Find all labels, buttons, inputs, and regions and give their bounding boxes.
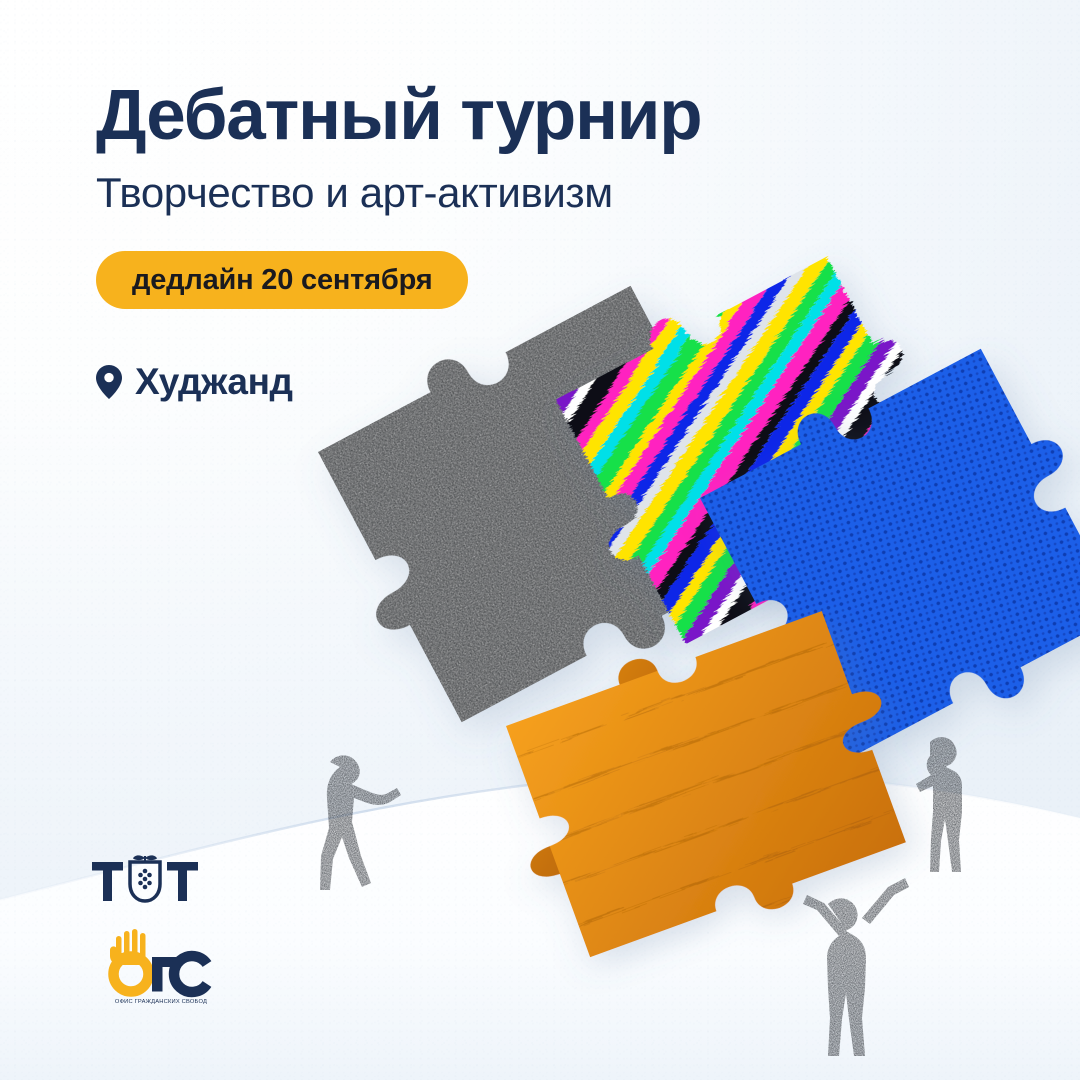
ogs-logo[interactable]: ОФИС ГРАЖДАНСКИХ СВОБОД xyxy=(102,928,220,1006)
deadline-badge-label: дедлайн 20 сентября xyxy=(132,264,432,297)
map-pin-icon xyxy=(96,365,122,399)
page-title: Дебатный турнир xyxy=(96,78,876,153)
tut-logo[interactable] xyxy=(92,853,198,907)
ogs-tagline: ОФИС ГРАЖДАНСКИХ СВОБОД xyxy=(115,999,207,1005)
deadline-badge[interactable]: дедлайн 20 сентября xyxy=(96,251,468,309)
logo-group: ОФИС ГРАЖДАНСКИХ СВОБОД xyxy=(92,853,220,1006)
poster-canvas: Дебатный турнир Творчество и арт-активиз… xyxy=(0,0,1080,1080)
page-subtitle: Творчество и арт-активизм xyxy=(96,170,876,216)
poster-text-block: Дебатный турнир Творчество и арт-активиз… xyxy=(96,78,876,403)
location-row: Худжанд xyxy=(96,361,876,403)
location-label: Худжанд xyxy=(135,361,293,403)
